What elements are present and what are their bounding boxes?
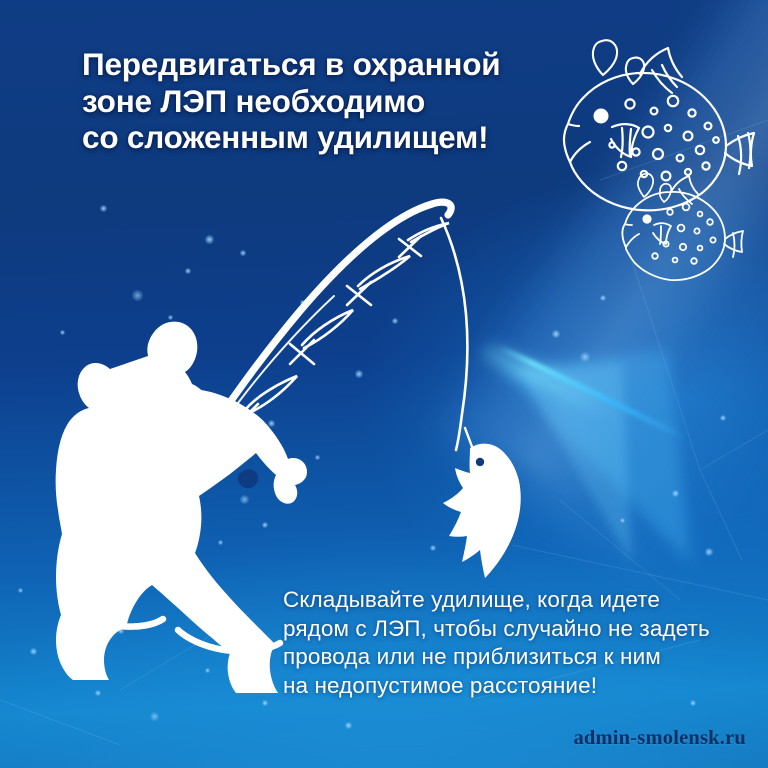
body-paragraph: Складывайте удилище, когда идете рядом с… [283, 586, 743, 700]
light-beam [498, 300, 768, 630]
beam-fan [499, 350, 691, 582]
caught-fish-silhouette [443, 428, 521, 578]
bubbles-small-icon [638, 174, 671, 202]
beam-core [497, 344, 688, 441]
footer-website-url: admin-smolensk.ru [573, 727, 746, 750]
doodle-fish-small-icon [622, 176, 743, 280]
fishing-line [196, 218, 467, 468]
poster-canvas: Передвигаться в охранной зоне ЛЭП необхо… [0, 0, 768, 768]
fisherman-silhouette [56, 322, 307, 693]
beam-glow [475, 332, 717, 478]
page-title: Передвигаться в охранной зоне ЛЭП необхо… [82, 46, 552, 156]
beam-fan-inner [517, 363, 632, 568]
fishing-rod [183, 202, 451, 472]
doodle-fish-large-icon [564, 48, 754, 210]
skis-silhouette [72, 606, 280, 652]
bubbles-large-icon [593, 40, 644, 84]
